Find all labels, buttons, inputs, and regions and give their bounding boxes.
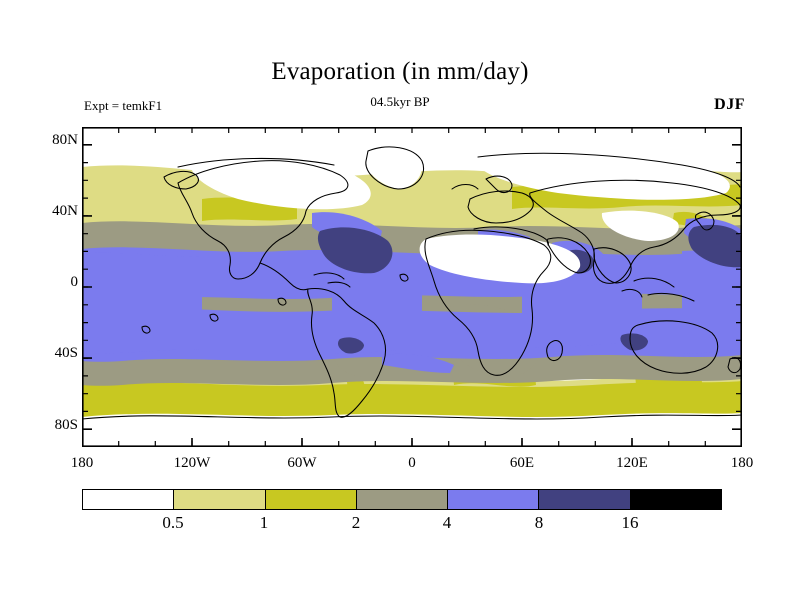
x-tick-label-0: 0 [377, 455, 447, 472]
y-tick-label-80s: 80S [26, 417, 78, 434]
y-tick-label-0: 0 [26, 274, 78, 291]
colorbar-band-5 [538, 490, 629, 509]
colorbar-tick-5: 16 [600, 513, 660, 533]
colorbar-band-4 [447, 490, 538, 509]
x-tick-label-60e: 60E [487, 455, 557, 472]
colorbar [82, 489, 722, 510]
y-tick-label-80n: 80N [26, 132, 78, 149]
x-tick-label-180e: 180 [707, 455, 777, 472]
colorbar-tick-2: 2 [326, 513, 386, 533]
season-label: DJF [714, 96, 745, 114]
colorbar-tick-0: 0.5 [143, 513, 203, 533]
colorbar-bands [82, 489, 722, 510]
page-title: Evaporation (in mm/day) [0, 58, 800, 86]
y-tick-label-40s: 40S [26, 345, 78, 362]
colorbar-tick-4: 8 [509, 513, 569, 533]
colorbar-tick-1: 1 [234, 513, 294, 533]
x-tick-label-180w: 180 [47, 455, 117, 472]
map-plot-area [82, 127, 742, 447]
y-tick-label-40n: 40N [26, 203, 78, 220]
x-tick-label-120w: 120W [157, 455, 227, 472]
x-tick-label-60w: 60W [267, 455, 337, 472]
map-fill-layer [82, 127, 742, 447]
colorbar-band-1 [173, 490, 264, 509]
colorbar-band-0 [83, 490, 173, 509]
figure-root: Evaporation (in mm/day) 04.5kyr BP Expt … [0, 0, 800, 600]
evaporation-map [82, 127, 742, 447]
colorbar-band-3 [356, 490, 447, 509]
colorbar-band-6 [630, 490, 721, 509]
colorbar-band-2 [265, 490, 356, 509]
x-tick-label-120e: 120E [597, 455, 667, 472]
experiment-label: Expt = temkF1 [84, 98, 162, 114]
colorbar-tick-3: 4 [417, 513, 477, 533]
